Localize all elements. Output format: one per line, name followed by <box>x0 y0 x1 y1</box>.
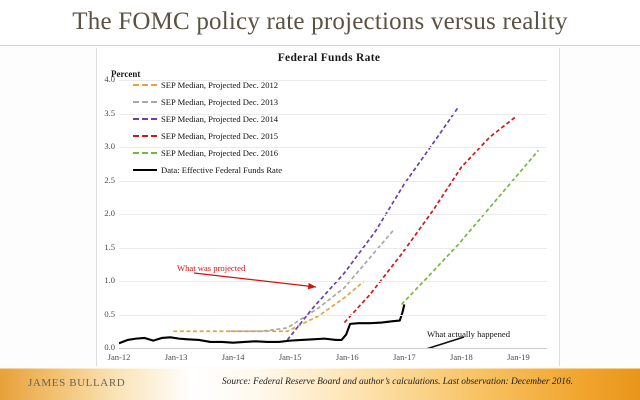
footer-top-highlight <box>0 368 640 369</box>
annotation-what-was-projected: What was projected <box>177 263 245 273</box>
legend-item-label: SEP Median, Projected Dec. 2012 <box>161 80 278 90</box>
x-tick-label: Jan-16 <box>324 352 370 362</box>
x-tick-label: Jan-14 <box>210 352 256 362</box>
y-tick-label: 4.0 <box>93 74 115 84</box>
legend-item-label: Data: Effective Federal Funds Rate <box>161 165 282 175</box>
y-tick-label: 2.5 <box>93 175 115 185</box>
legend-swatch-icon <box>133 169 157 171</box>
slide-title-bar: The FOMC policy rate projections versus … <box>0 0 640 44</box>
x-tick-label: Jan-19 <box>495 352 541 362</box>
x-tick-label: Jan-18 <box>438 352 484 362</box>
legend-item-label: SEP Median, Projected Dec. 2015 <box>161 131 278 141</box>
legend-swatch-icon <box>133 101 157 103</box>
legend-item-label: SEP Median, Projected Dec. 2016 <box>161 148 278 158</box>
chart-legend: SEP Median, Projected Dec. 2012SEP Media… <box>133 76 282 178</box>
y-tick-label: 0.0 <box>93 342 115 352</box>
page-title: The FOMC policy rate projections versus … <box>72 8 567 36</box>
y-tick-label: 0.5 <box>93 309 115 319</box>
legend-item-label: SEP Median, Projected Dec. 2014 <box>161 114 278 124</box>
legend-swatch-icon <box>133 84 157 86</box>
y-tick-label: 1.0 <box>93 275 115 285</box>
x-tick-label: Jan-12 <box>96 352 142 362</box>
gridline <box>119 315 547 316</box>
x-tick-label: Jan-13 <box>153 352 199 362</box>
legend-item[interactable]: Data: Effective Federal Funds Rate <box>133 161 282 178</box>
source-note: Source: Federal Reserve Board and author… <box>222 377 573 387</box>
legend-item[interactable]: SEP Median, Projected Dec. 2016 <box>133 144 282 161</box>
gridline <box>119 281 547 282</box>
series-line <box>287 107 458 340</box>
legend-item[interactable]: SEP Median, Projected Dec. 2015 <box>133 127 282 144</box>
legend-item[interactable]: SEP Median, Projected Dec. 2013 <box>133 93 282 110</box>
x-axis-line <box>119 348 547 349</box>
legend-item-label: SEP Median, Projected Dec. 2013 <box>161 97 278 107</box>
legend-swatch-icon <box>133 118 157 120</box>
legend-item[interactable]: SEP Median, Projected Dec. 2014 <box>133 110 282 127</box>
annotation-what-actually-happened: What actually happened <box>427 329 510 339</box>
gridline <box>119 248 547 249</box>
brand-name: JAMES BULLARD <box>28 377 125 389</box>
gridline <box>119 214 547 215</box>
y-tick-label: 3.5 <box>93 108 115 118</box>
legend-swatch-icon <box>133 135 157 137</box>
chart-title: Federal Funds Rate <box>97 52 561 64</box>
series-line <box>119 304 404 343</box>
y-tick-label: 1.5 <box>93 242 115 252</box>
y-tick-label: 2.0 <box>93 208 115 218</box>
chart-frame: Federal Funds Rate Percent 0.00.51.01.52… <box>96 48 560 366</box>
slide-footer: JAMES BULLARD Source: Federal Reserve Bo… <box>0 368 640 400</box>
x-tick-label: Jan-15 <box>267 352 313 362</box>
x-tick-label: Jan-17 <box>381 352 427 362</box>
gridline <box>119 181 547 182</box>
legend-swatch-icon <box>133 152 157 154</box>
series-line <box>173 281 364 331</box>
legend-item[interactable]: SEP Median, Projected Dec. 2012 <box>133 76 282 93</box>
slide-body: Federal Funds Rate Percent 0.00.51.01.52… <box>0 46 640 368</box>
y-tick-label: 3.0 <box>93 141 115 151</box>
